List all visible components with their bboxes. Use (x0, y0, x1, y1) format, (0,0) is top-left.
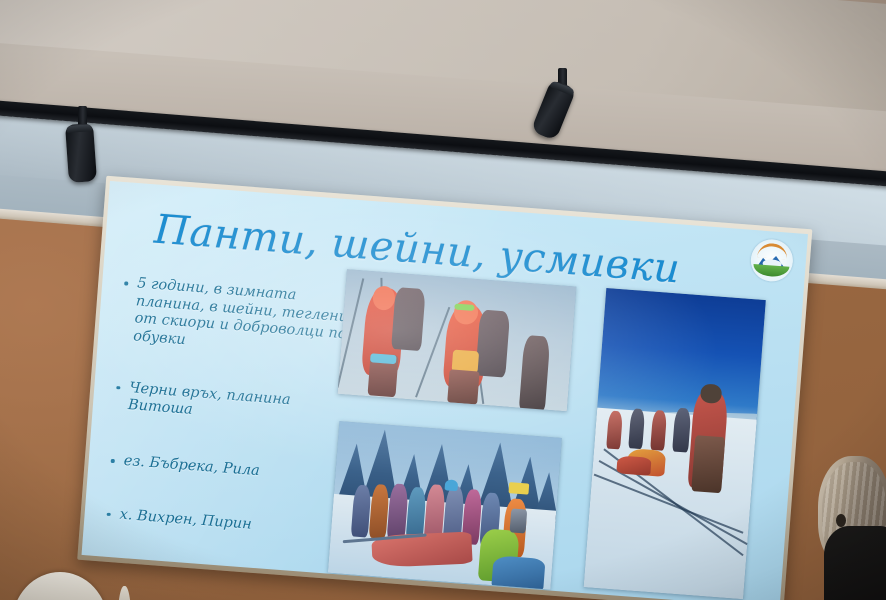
photo-sled-team (584, 288, 766, 599)
deep-blue-sky (597, 288, 766, 426)
bullet-text: х. Вихрен, Пирин (119, 507, 252, 533)
person-blue-jacket (491, 555, 545, 589)
bullet-dot-icon (111, 459, 115, 463)
bullet-dot-icon (124, 281, 128, 285)
climber-belt (370, 353, 397, 364)
projection-screen: Панти, шейни, усмивки 5 години, в зимнат… (82, 181, 808, 600)
person-legs (691, 435, 725, 493)
spotlight-head (65, 123, 97, 183)
list-item: ез. Бъбрека, Рила (106, 452, 347, 488)
trail-sign (508, 482, 529, 494)
person (606, 411, 623, 450)
equipment-post (510, 508, 528, 533)
bullet-text: Черни връх, планина Витоша (127, 380, 291, 419)
beanie-hat (445, 479, 459, 491)
logo-green-band (753, 264, 790, 278)
list-item: х. Вихрен, Пирин (102, 505, 343, 541)
bullet-text: ез. Бъбрека, Рила (123, 453, 260, 479)
logo-text-arc (757, 242, 788, 259)
photo-climbers (338, 269, 577, 411)
photo-group-forest (328, 421, 562, 589)
climber-backpack (475, 309, 510, 377)
slide-bullet-list: 5 години, в зимната планина, в шейни, те… (101, 274, 361, 558)
list-item: Черни връх, планина Витоша (110, 379, 352, 432)
person-ear (836, 514, 846, 527)
person (672, 408, 691, 453)
spotlight-lens (66, 124, 92, 133)
audience-member (800, 456, 886, 600)
bullet-text: 5 години, в зимната планина, в шейни, те… (133, 275, 349, 348)
room-scene: Панти, шейни, усмивки 5 години, в зимнат… (0, 0, 886, 600)
climber-legs (447, 369, 479, 404)
climber-backpack (391, 287, 426, 351)
list-item: 5 години, в зимната планина, в шейни, те… (116, 274, 361, 363)
presentation-slide: Панти, шейни, усмивки 5 години, в зимнат… (82, 181, 808, 600)
organization-logo (749, 238, 794, 283)
sled (616, 455, 651, 476)
bullet-dot-icon (107, 513, 111, 517)
bullet-dot-icon (116, 386, 120, 390)
person-torso (824, 526, 886, 600)
